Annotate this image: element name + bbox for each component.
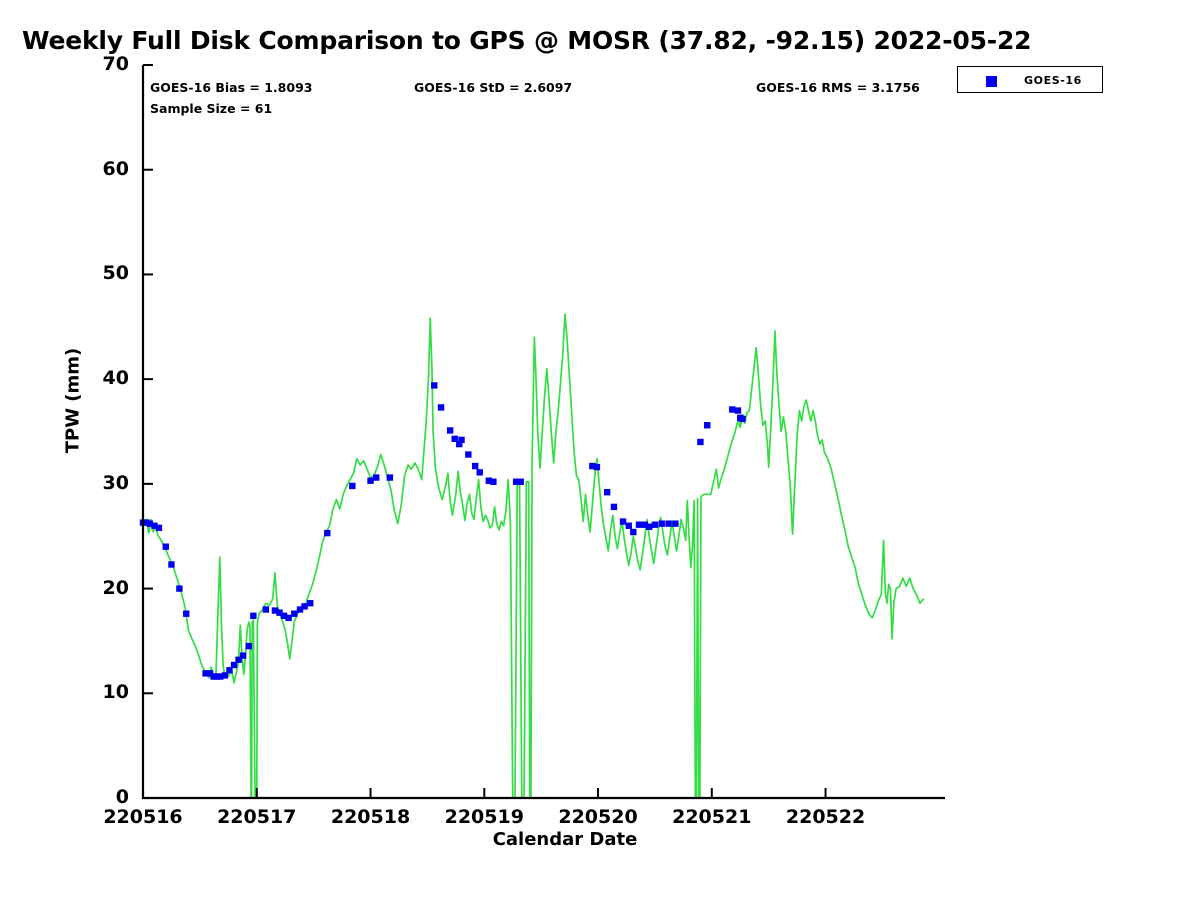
data-point-goes-16 [240, 652, 246, 658]
data-point-goes-16 [458, 437, 464, 443]
y-tick-label: 50 [69, 262, 129, 284]
data-point-goes-16 [250, 613, 256, 619]
x-tick-label: 220520 [533, 806, 663, 828]
data-point-goes-16 [704, 422, 710, 428]
data-point-goes-16 [163, 543, 169, 549]
x-tick-label: 220521 [647, 806, 777, 828]
data-point-goes-16 [697, 439, 703, 445]
y-tick-label: 30 [69, 472, 129, 494]
plot-area [0, 0, 1200, 900]
data-point-goes-16 [183, 611, 189, 617]
data-point-goes-16 [636, 522, 642, 528]
data-point-goes-16 [729, 406, 735, 412]
data-point-goes-16 [156, 525, 162, 531]
data-point-goes-16 [447, 427, 453, 433]
data-point-goes-16 [490, 479, 496, 485]
data-point-goes-16 [307, 600, 313, 606]
data-point-goes-16 [291, 611, 297, 617]
data-point-goes-16 [349, 483, 355, 489]
data-point-goes-16 [176, 585, 182, 591]
data-point-goes-16 [735, 407, 741, 413]
data-point-goes-16 [431, 382, 437, 388]
data-point-goes-16 [438, 404, 444, 410]
x-tick-label: 220518 [306, 806, 436, 828]
x-tick-label: 220519 [419, 806, 549, 828]
data-point-goes-16 [168, 561, 174, 567]
data-point-goes-16 [472, 463, 478, 469]
data-point-goes-16 [594, 464, 600, 470]
y-tick-label: 0 [69, 786, 129, 808]
series-line-gps [143, 314, 923, 798]
data-point-goes-16 [367, 478, 373, 484]
chart-root: Weekly Full Disk Comparison to GPS @ MOS… [0, 0, 1200, 900]
axes-layer [143, 65, 945, 798]
y-tick-label: 70 [69, 53, 129, 75]
data-point-goes-16 [646, 524, 652, 530]
series-layer [140, 314, 924, 798]
data-point-goes-16 [652, 522, 658, 528]
data-point-goes-16 [672, 520, 678, 526]
data-point-goes-16 [739, 416, 745, 422]
data-point-goes-16 [611, 504, 617, 510]
data-point-goes-16 [517, 479, 523, 485]
data-point-goes-16 [465, 451, 471, 457]
axis-spine [143, 65, 945, 798]
data-point-goes-16 [604, 489, 610, 495]
y-tick-label: 10 [69, 681, 129, 703]
x-tick-label: 220522 [761, 806, 891, 828]
y-tick-label: 60 [69, 158, 129, 180]
data-point-goes-16 [659, 520, 665, 526]
x-tick-label: 220516 [78, 806, 208, 828]
data-point-goes-16 [477, 469, 483, 475]
data-point-goes-16 [246, 643, 252, 649]
y-tick-label: 40 [69, 367, 129, 389]
y-tick-label: 20 [69, 577, 129, 599]
data-point-goes-16 [301, 603, 307, 609]
data-point-goes-16 [373, 474, 379, 480]
data-point-goes-16 [387, 474, 393, 480]
data-point-goes-16 [665, 520, 671, 526]
data-point-goes-16 [626, 523, 632, 529]
data-point-goes-16 [630, 529, 636, 535]
data-point-goes-16 [263, 606, 269, 612]
data-point-goes-16 [620, 518, 626, 524]
x-tick-label: 220517 [192, 806, 322, 828]
data-point-goes-16 [324, 530, 330, 536]
data-point-goes-16 [285, 615, 291, 621]
